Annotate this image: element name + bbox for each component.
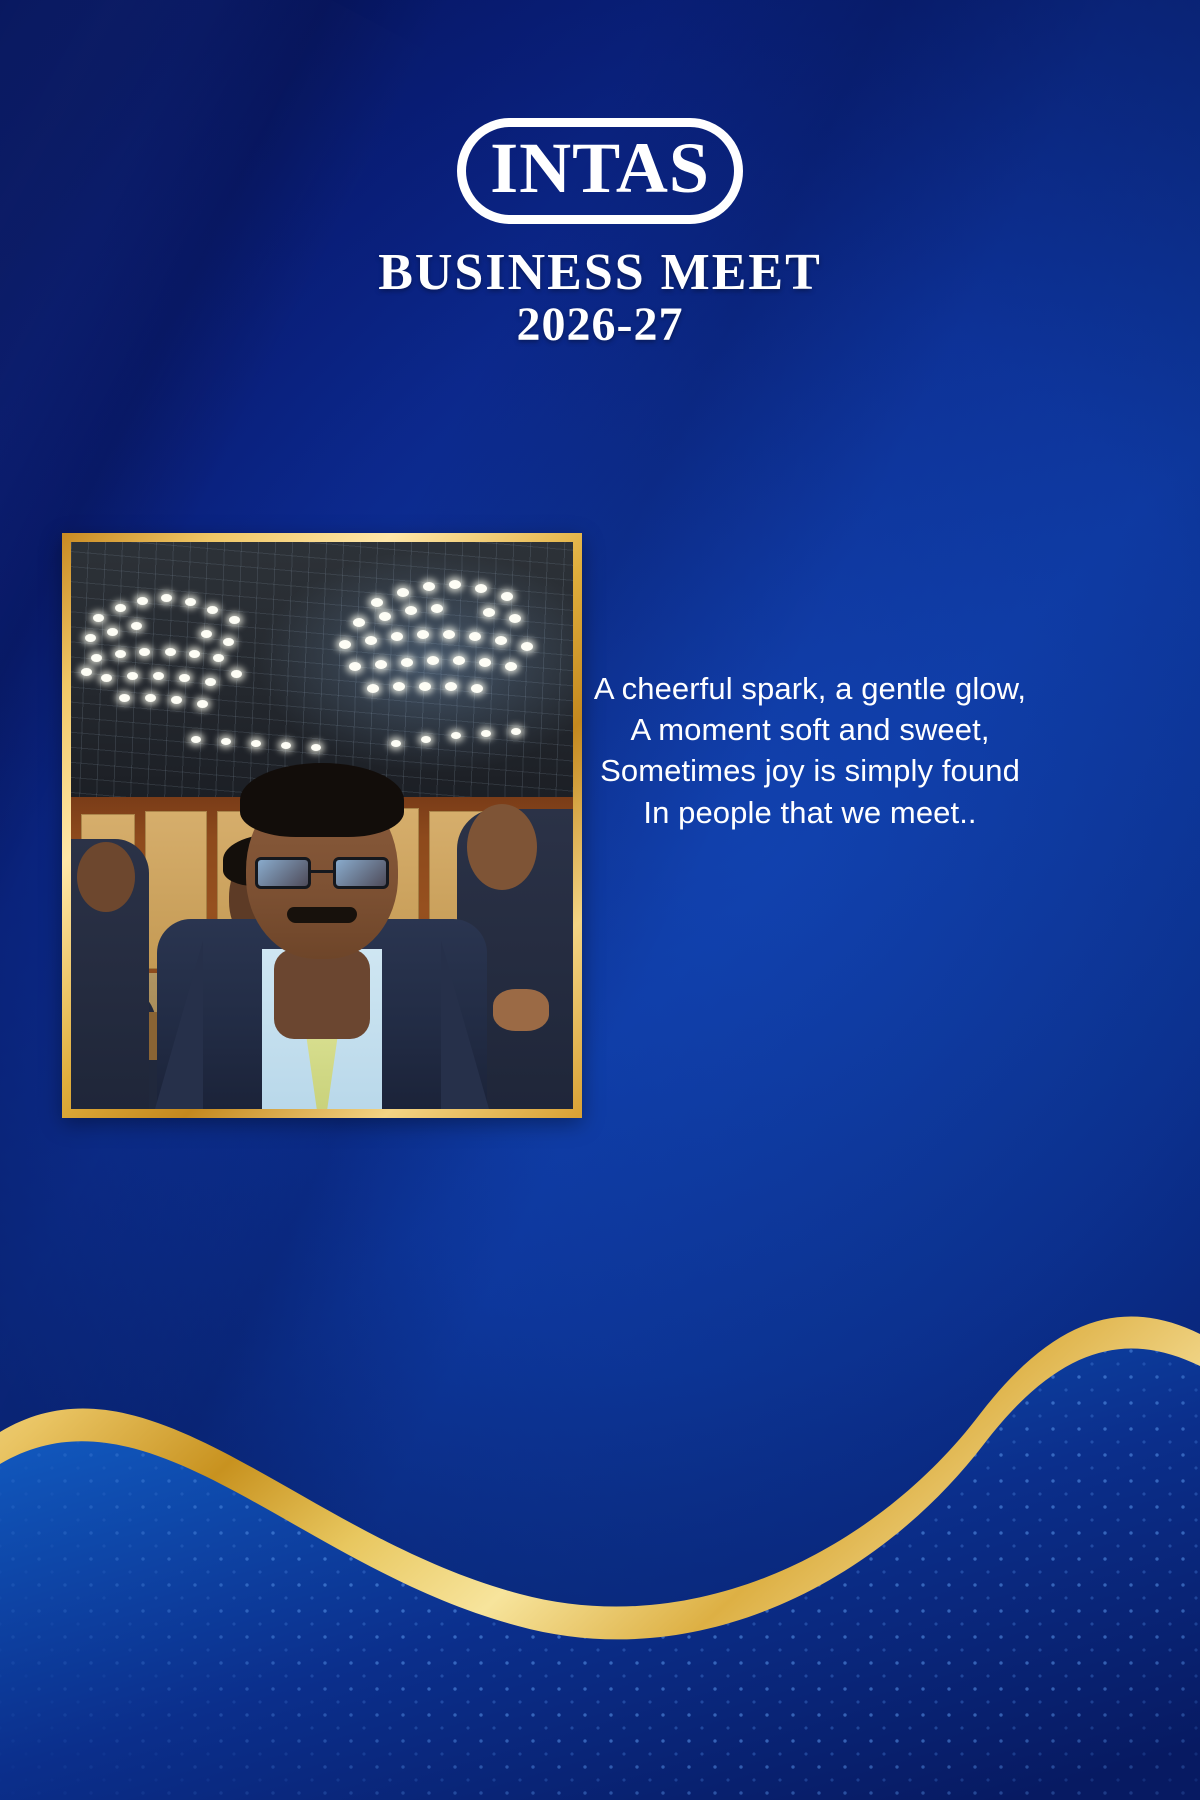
- poem-line-3: Sometimes joy is simply found: [584, 750, 1036, 791]
- event-photo: [71, 542, 573, 1109]
- photo-frame: [62, 533, 582, 1118]
- poster-canvas: INTAS BUSINESS MEET 2026-27: [0, 0, 1200, 1800]
- subject-hair: [240, 763, 404, 837]
- event-year: 2026-27: [0, 301, 1200, 350]
- bottom-wave-decoration: [0, 1180, 1200, 1800]
- subject-moustache: [287, 907, 357, 923]
- poem-line-1: A cheerful spark, a gentle glow,: [584, 668, 1036, 709]
- gold-wave-icon: [0, 1180, 1200, 1800]
- poem-line-2: A moment soft and sweet,: [584, 709, 1036, 750]
- poem-text: A cheerful spark, a gentle glow, A momen…: [584, 668, 1036, 833]
- intas-logo-icon: INTAS: [457, 118, 743, 224]
- logo-wordmark: INTAS: [490, 132, 710, 204]
- event-title: BUSINESS MEET: [0, 246, 1200, 299]
- poem-line-4: In people that we meet..: [584, 792, 1036, 833]
- poster-header: INTAS BUSINESS MEET 2026-27: [0, 0, 1200, 350]
- subject-glasses-icon: [255, 857, 389, 891]
- halftone-dots-icon: [0, 1180, 1200, 1800]
